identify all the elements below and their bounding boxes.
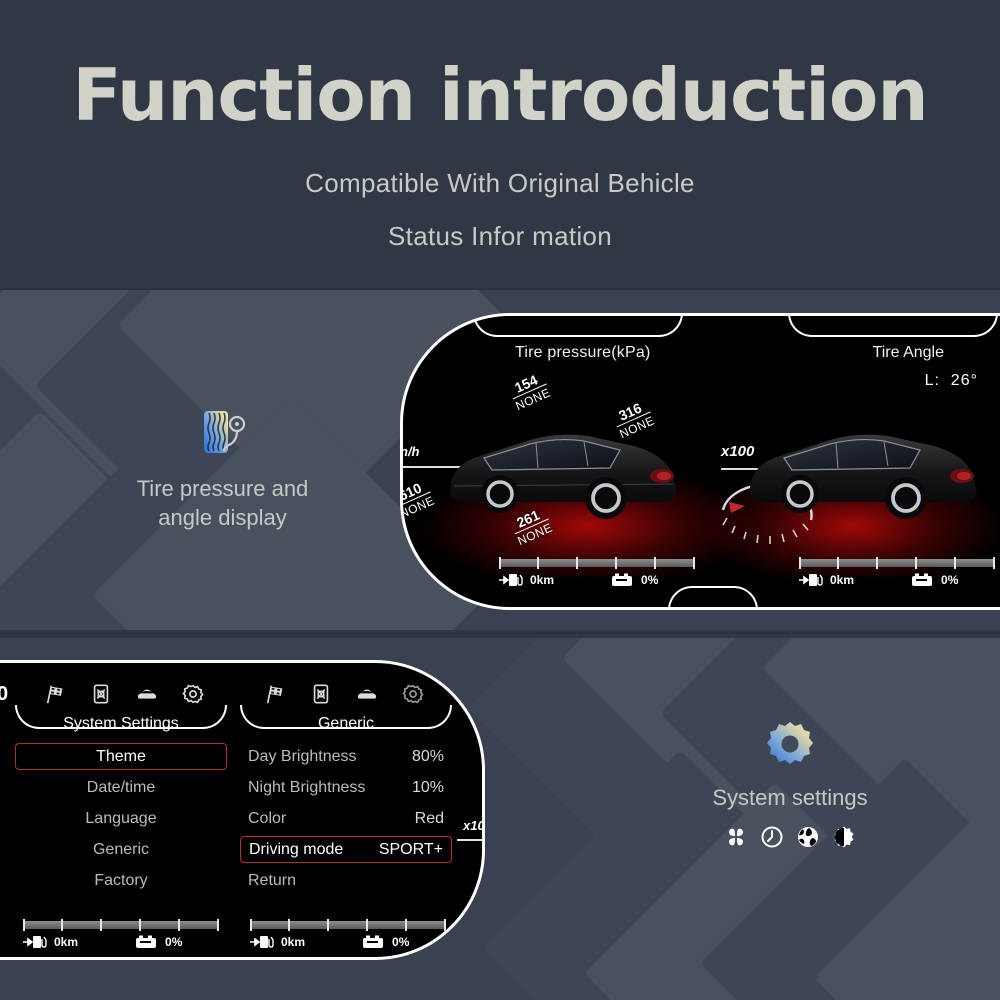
speedo-digit: 0	[0, 683, 8, 706]
left-panel-title: System Settings	[15, 715, 227, 733]
tach-max-label: 8	[463, 685, 474, 707]
tire-pressure-gauge-icon	[199, 405, 247, 461]
hero-subtitle-line1: Compatible With Original Behicle	[305, 168, 695, 199]
generic-settings-menu: Day Brightness 80% Night Brightness 10% …	[240, 743, 452, 894]
page-root: Function introduction Compatible With Or…	[0, 0, 1000, 1000]
hero-subtitle-line2: Status Infor mation	[388, 221, 612, 252]
battery-icon	[610, 572, 636, 588]
brightness-icon	[832, 825, 856, 849]
status-bar-settings-left: 0km 0%	[23, 921, 219, 955]
hood-notch-left	[473, 313, 683, 337]
menu-item-factory[interactable]: Factory	[15, 867, 227, 894]
settings-sub-icons	[675, 825, 905, 849]
status-bar-right: 0km 0%	[799, 559, 995, 593]
globe-icon	[796, 825, 820, 849]
menu-item-night-brightness[interactable]: Night Brightness 10%	[240, 774, 452, 801]
car-silhouette-icon-2	[738, 414, 988, 534]
menu-item-date-time[interactable]: Date/time	[15, 774, 227, 801]
fuel-gauge-bar-4	[250, 921, 446, 929]
hero-section: Function introduction Compatible With Or…	[0, 0, 1000, 288]
battery-label: 0%	[641, 573, 658, 587]
tire-callout-line1: Tire pressure and	[110, 475, 335, 504]
battery-label-4: 0%	[392, 935, 409, 949]
right-panel-title: Generic	[240, 715, 452, 733]
menu-item-driving-mode[interactable]: Driving mode SPORT+	[240, 836, 452, 863]
settings-cluster-display: 0	[0, 660, 485, 960]
fuel-pump-icon	[499, 572, 525, 588]
tire-feature-callout: Tire pressure and angle display	[110, 405, 335, 532]
trip-label: Trip	[450, 871, 485, 891]
trip-computer-icon-2[interactable]	[309, 683, 333, 705]
tach-unit-label: x1000r/min	[463, 818, 485, 833]
race-flag-icon-2[interactable]	[263, 683, 287, 705]
nav-icons-left	[43, 683, 205, 705]
range-label-4: 0km	[281, 935, 305, 949]
battery-label-2: 0%	[941, 573, 958, 587]
range-label-2: 0km	[830, 573, 854, 587]
fuel-pump-icon-3	[23, 934, 49, 950]
battery-label-3: 0%	[165, 935, 182, 949]
tire-cluster-display: Tire pressure(kPa) Tire Angle L: 26° n/h…	[400, 313, 1000, 610]
car-icon-2[interactable]	[355, 683, 379, 705]
battery-icon-3	[134, 934, 160, 950]
car-silhouette-icon	[438, 414, 688, 534]
car-illustration-right	[738, 414, 988, 534]
hood-notch-right	[788, 313, 998, 337]
car-icon[interactable]	[135, 683, 159, 705]
tach-underline	[457, 839, 485, 841]
car-illustration-left	[438, 414, 688, 534]
clock-icon	[760, 825, 784, 849]
tire-pressure-title: Tire pressure(kPa)	[515, 344, 650, 362]
fuel-gauge-bar-2	[799, 559, 995, 567]
odo-label: ODO	[450, 845, 485, 865]
menu-item-return[interactable]: Return	[240, 867, 452, 894]
menu-item-generic[interactable]: Generic	[15, 836, 227, 863]
apps-grid-icon	[724, 825, 748, 849]
battery-icon-2	[910, 572, 936, 588]
left-panel: System Settings Theme Date/time Language…	[15, 715, 227, 898]
menu-item-theme[interactable]: Theme	[15, 743, 227, 770]
fuel-pump-icon-2	[799, 572, 825, 588]
nav-icons-right	[263, 683, 425, 705]
battery-icon-4	[361, 934, 387, 950]
settings-feature-callout: System settings	[675, 718, 905, 849]
tire-callout-line2: angle display	[110, 504, 335, 533]
status-bar-settings-right: 0km 0%	[250, 921, 446, 955]
status-bar-left: 0km 0%	[499, 559, 695, 593]
range-label-3: 0km	[54, 935, 78, 949]
fuel-gauge-bar	[499, 559, 695, 567]
menu-item-color[interactable]: Color Red	[240, 805, 452, 832]
gear-icon-nav[interactable]	[181, 683, 205, 705]
race-flag-icon[interactable]	[43, 683, 67, 705]
system-settings-menu: Theme Date/time Language Generic Factory	[15, 743, 227, 894]
tire-angle-value: L: 26°	[925, 372, 978, 390]
page-title: Function introduction	[72, 58, 927, 134]
right-panel: Generic Day Brightness 80% Night Brightn…	[240, 715, 452, 898]
fuel-pump-icon-4	[250, 934, 276, 950]
section-divider-bottom	[0, 632, 1000, 634]
fuel-gauge-bar-3	[23, 921, 219, 929]
menu-item-language[interactable]: Language	[15, 805, 227, 832]
gear-icon-nav-2[interactable]	[401, 683, 425, 705]
menu-item-day-brightness[interactable]: Day Brightness 80%	[240, 743, 452, 770]
tire-label-front-left: 154 NONE	[506, 370, 552, 412]
tire-angle-title: Tire Angle	[873, 344, 944, 362]
gear-icon	[764, 718, 816, 770]
speed-unit-label: n/h	[400, 444, 420, 459]
tach-tick	[467, 671, 469, 685]
range-label: 0km	[530, 573, 554, 587]
trip-computer-icon[interactable]	[89, 683, 113, 705]
settings-callout-caption: System settings	[675, 784, 905, 813]
